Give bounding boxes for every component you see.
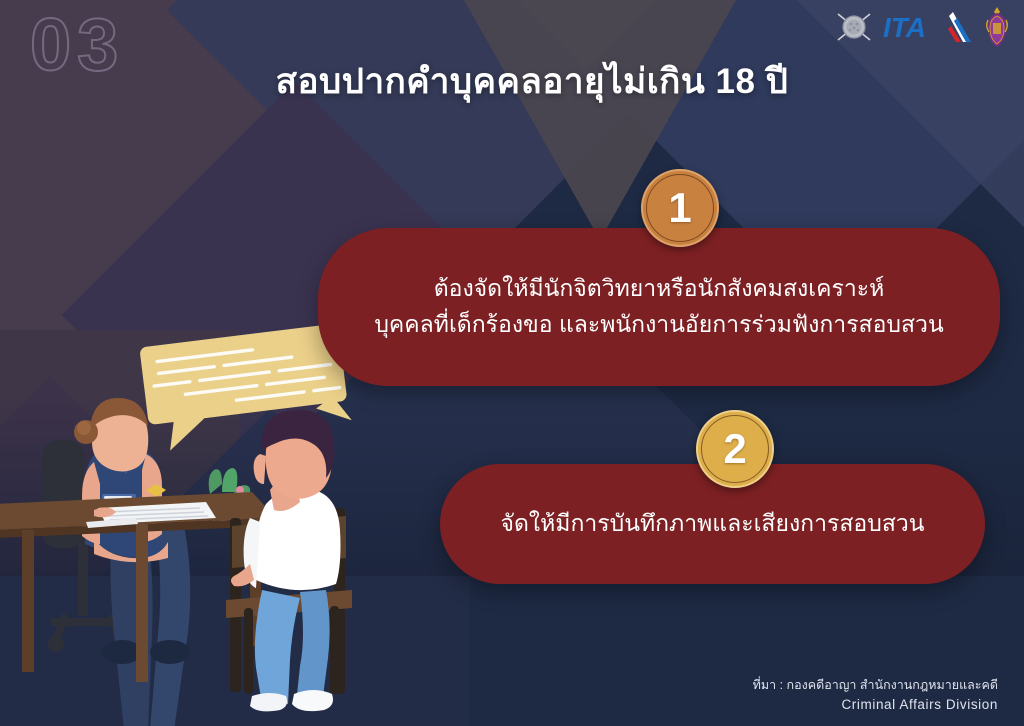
footer-source-thai: ที่มา : กองคดีอาญา สำนักงานกฎหมายและคดี bbox=[753, 676, 998, 695]
info-card-1-line2: บุคคลที่เด็กร้องขอ และพนักงานอัยการร่วมฟ… bbox=[374, 307, 943, 343]
step-badge-1: 1 bbox=[641, 169, 719, 247]
info-card-2-text: จัดให้มีการบันทึกภาพและเสียงการสอบสวน bbox=[474, 506, 950, 542]
royal-thai-police-emblem-icon bbox=[834, 7, 874, 47]
page-title: สอบปากคำบุคคลอายุไม่เกิน 18 ปี bbox=[0, 54, 1024, 109]
royal-garuda-emblem-icon bbox=[984, 6, 1010, 48]
info-card-1[interactable]: ต้องจัดให้มีนักจิตวิทยาหรือนักสังคมสงเคร… bbox=[318, 228, 1000, 386]
footer-source: ที่มา : กองคดีอาญา สำนักงานกฎหมายและคดี … bbox=[753, 676, 998, 716]
logo-group: ITA bbox=[834, 6, 1010, 48]
step-badge-2-number: 2 bbox=[723, 428, 746, 470]
info-card-2-line1: จัดให้มีการบันทึกภาพและเสียงการสอบสวน bbox=[500, 506, 924, 542]
footer-source-english: Criminal Affairs Division bbox=[753, 695, 998, 716]
info-card-1-text: ต้องจัดให้มีนักจิตวิทยาหรือนักสังคมสงเคร… bbox=[348, 271, 969, 342]
step-badge-1-number: 1 bbox=[668, 187, 691, 229]
svg-text:ITA: ITA bbox=[883, 12, 926, 43]
step-badge-2: 2 bbox=[696, 410, 774, 488]
info-card-1-line1: ต้องจัดให้มีนักจิตวิทยาหรือนักสังคมสงเคร… bbox=[374, 271, 943, 307]
police-interview-illustration bbox=[0, 322, 394, 726]
ita-logo-icon: ITA bbox=[883, 10, 975, 44]
info-card-2[interactable]: จัดให้มีการบันทึกภาพและเสียงการสอบสวน bbox=[440, 464, 985, 584]
infographic-slide: 03 สอบปากคำบุคคลอายุไม่เกิน 18 ปี ITA bbox=[0, 0, 1024, 726]
